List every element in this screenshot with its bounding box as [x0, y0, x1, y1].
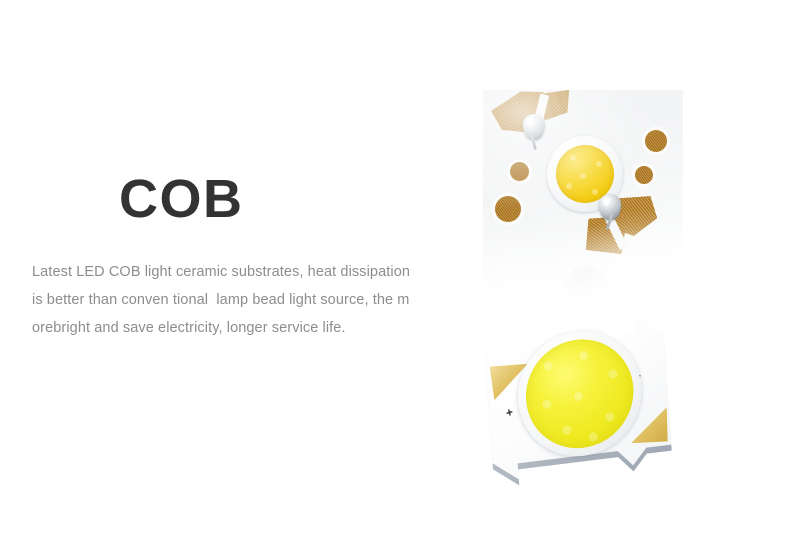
image-column: + – — [470, 0, 790, 538]
chip-body: + – — [483, 307, 673, 489]
board-fade — [483, 226, 683, 312]
description-paragraph: Latest LED COB light ceramic substrates,… — [32, 258, 464, 342]
text-column: COB Latest LED COB light ceramic substra… — [0, 0, 470, 538]
description-line-3: orebright and save electricity, longer s… — [32, 314, 464, 342]
product-banner: COB Latest LED COB light ceramic substra… — [0, 0, 790, 538]
description-line-1: Latest LED COB light ceramic substrates,… — [32, 258, 464, 286]
round-cob-on-pcb-photo — [483, 90, 683, 312]
phosphor-surface — [522, 333, 637, 454]
square-ceramic-cob-chip-photo: + – — [482, 312, 697, 512]
page-title: COB — [119, 172, 244, 226]
description-line-2: is better than conven tional lamp bead l… — [32, 286, 464, 314]
